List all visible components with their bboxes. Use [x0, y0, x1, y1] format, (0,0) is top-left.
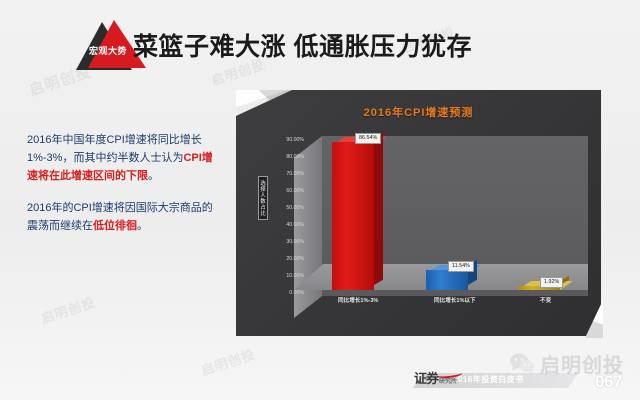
wechat-icon	[509, 353, 535, 375]
y-tick: 20.00%	[286, 257, 304, 262]
page-number: 067	[595, 372, 622, 392]
y-axis-ticks: 90.00% 80.00% 70.00% 60.00% 50.00% 40.00…	[260, 138, 304, 296]
bar-series-2	[426, 270, 468, 290]
bar-data-label: 1.92%	[540, 277, 563, 288]
x-axis-label: 同比增长1%以下	[434, 296, 476, 304]
header: 宏观大势 菜篮子难大涨 低通胀压力犹存	[0, 0, 640, 80]
body-copy: 2016年中国年度CPI增速将同比增长1%-3%，而其中约半数人士认为CPI增速…	[27, 131, 223, 235]
y-tick: 70.00%	[286, 172, 304, 177]
y-tick: 50.00%	[286, 206, 304, 211]
publisher-sub: 研究所	[439, 379, 457, 385]
badge-label: 宏观大势	[76, 44, 140, 57]
x-axis-label: 不变	[540, 296, 551, 304]
bar-front-face	[332, 142, 374, 290]
paragraph-1-end: 。	[148, 170, 159, 182]
bar-data-label: 11.54%	[448, 261, 474, 272]
x-axis-labels: 同比增长1%-3% 同比增长1%以下 不变	[294, 296, 590, 310]
paragraph-2-end: 。	[137, 220, 148, 232]
bar-front-face	[426, 270, 468, 290]
paragraph-1-text: 2016年中国年度CPI增速将同比增长1%-3%，而其中约半数人士认为	[27, 134, 202, 164]
y-tick: 10.00%	[286, 274, 304, 279]
y-tick: 90.00%	[286, 138, 304, 143]
paragraph-2-highlight: 低位徘徊	[93, 220, 137, 232]
page-title: 菜篮子难大涨 低通胀压力犹存	[133, 27, 472, 63]
chart-title: 2016年CPI增速预测	[236, 104, 601, 120]
chart-panel: 2016年CPI增速预测 选择人数占比 90.00% 80.00% 70.00%…	[236, 90, 601, 336]
bar-series-1	[332, 142, 374, 290]
report-title: 2016年投资白皮书	[453, 374, 524, 385]
paragraph-2: 2016年的CPI增速将因国际大宗商品的震荡而继续在低位徘徊。	[27, 199, 223, 235]
slide-root: 启明创投 启明创投 启明创投 启明创投 启明创投 宏观大势 菜篮子难大涨 低通胀…	[0, 0, 640, 400]
y-tick: 60.00%	[286, 189, 304, 194]
publisher-name: 证券	[414, 371, 438, 386]
chart-plot-area: 选择人数占比 90.00% 80.00% 70.00% 60.00% 50.00…	[260, 132, 590, 310]
watermark-4: 启明创投	[38, 292, 97, 327]
paragraph-1: 2016年中国年度CPI增速将同比增长1%-3%，而其中约半数人士认为CPI增速…	[27, 131, 223, 185]
bar-side-face	[374, 132, 383, 285]
y-tick: 80.00%	[286, 155, 304, 160]
x-axis-label: 同比增长1%-3%	[338, 296, 378, 304]
y-tick: 30.00%	[286, 240, 304, 245]
footer: 2016年投资白皮书 证券研究所 启明创投 067	[0, 354, 640, 400]
y-tick: 40.00%	[286, 223, 304, 228]
bar-data-label: 86.54%	[355, 133, 381, 144]
